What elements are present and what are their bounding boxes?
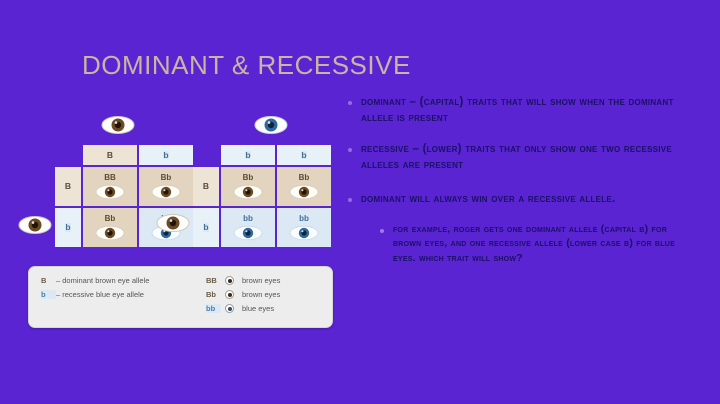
bullet-dot-icon bbox=[380, 229, 384, 233]
legend-description: – recessive blue eye allele bbox=[56, 290, 144, 299]
cell-eye-brown-icon bbox=[95, 225, 125, 241]
side-header-cell: B bbox=[193, 167, 219, 206]
legend-panel: B – dominant brown eye allele b – recess… bbox=[28, 266, 333, 328]
top-header-cell: b bbox=[139, 145, 193, 165]
bullet-item: Dominant – (CAPITAL) traits that will sh… bbox=[348, 94, 696, 127]
genotype-label: Bb bbox=[161, 174, 172, 182]
cell-eye-brown-icon bbox=[95, 184, 125, 200]
cell-eye-brown-icon bbox=[233, 184, 263, 200]
punnett-cell: bb bbox=[221, 208, 275, 247]
slide-canvas: DOMINANT & RECESSIVE Dominant – (CAPITAL… bbox=[0, 0, 720, 404]
cell-eye-brown-icon bbox=[151, 184, 181, 200]
genotype-label: BB bbox=[104, 174, 116, 182]
bullet-item: Dominant will always WIN over a recessiv… bbox=[348, 191, 696, 207]
header-label: B bbox=[65, 182, 71, 191]
punnett-grid: b b B Bb Bb bbox=[193, 145, 331, 247]
legend-eye-dot-brown-icon bbox=[225, 290, 234, 299]
cell-eye-brown-icon bbox=[289, 184, 319, 200]
punnett-cell: Bb bbox=[277, 167, 331, 206]
bullet-dot-icon bbox=[348, 101, 352, 105]
punnett-square-two: b b B Bb Bb bbox=[193, 115, 227, 155]
legend-row: b – recessive blue eye allele bbox=[41, 290, 206, 299]
bullet-text: For example, Roger gets one dominant all… bbox=[393, 222, 696, 265]
legend-eye-dot-brown-icon bbox=[225, 276, 234, 285]
genotype-label: Bb bbox=[299, 174, 310, 182]
header-label: B bbox=[203, 182, 209, 191]
bullet-dot-icon bbox=[348, 198, 352, 202]
punnett-cell: BB bbox=[83, 167, 137, 206]
legend-code: Bb bbox=[206, 290, 221, 299]
punnett-cell: Bb bbox=[139, 167, 193, 206]
genotype-label: Bb bbox=[243, 174, 254, 182]
legend-allele-column: B – dominant brown eye allele b – recess… bbox=[41, 276, 206, 318]
legend-genotype-column: BB brown eyes Bb brown eyes bb blue eyes bbox=[206, 276, 320, 318]
legend-row: Bb brown eyes bbox=[206, 290, 320, 299]
legend-code: B bbox=[41, 276, 56, 285]
punnett-cell: bb bbox=[277, 208, 331, 247]
bullet-text: Dominant – (CAPITAL) traits that will sh… bbox=[361, 94, 696, 127]
legend-row: BB brown eyes bbox=[206, 276, 320, 285]
page-title: DOMINANT & RECESSIVE bbox=[82, 50, 411, 81]
header-label: b bbox=[163, 151, 168, 160]
bullet-dot-icon bbox=[348, 148, 352, 152]
legend-code: BB bbox=[206, 276, 221, 285]
bullet-text: Recessive – (lower) traits that only sho… bbox=[361, 141, 696, 174]
grid-corner-blank bbox=[193, 145, 219, 165]
grid-corner-blank bbox=[55, 145, 81, 165]
top-header-cell: b bbox=[277, 145, 331, 165]
parent-eye-side-brown-icon bbox=[18, 215, 52, 235]
punnett-square-one: B b B BB Bb bbox=[55, 115, 89, 155]
legend-code: b bbox=[41, 290, 56, 299]
header-label: B bbox=[107, 151, 113, 160]
genotype-label: bb bbox=[243, 215, 253, 223]
punnett-cell: Bb bbox=[221, 167, 275, 206]
side-header-cell: B bbox=[55, 167, 81, 206]
bullet-item: Recessive – (lower) traits that only sho… bbox=[348, 141, 696, 174]
header-label: b bbox=[245, 151, 250, 160]
legend-code: bb bbox=[206, 304, 221, 313]
header-label: b bbox=[301, 151, 306, 160]
genotype-label: Bb bbox=[105, 215, 116, 223]
top-header-cell: B bbox=[83, 145, 137, 165]
legend-row: B – dominant brown eye allele bbox=[41, 276, 206, 285]
parent-eye-top-blue-icon bbox=[254, 115, 288, 135]
cell-eye-blue-icon bbox=[289, 225, 319, 241]
legend-description: brown eyes bbox=[242, 276, 280, 285]
bullet-text: Dominant will always WIN over a recessiv… bbox=[361, 191, 615, 207]
side-header-cell: b bbox=[55, 208, 81, 247]
header-label: b bbox=[203, 223, 208, 232]
parent-eye-top-brown-icon bbox=[101, 115, 135, 135]
side-header-cell: b bbox=[193, 208, 219, 247]
punnett-cell: Bb bbox=[83, 208, 137, 247]
top-header-cell: b bbox=[221, 145, 275, 165]
parent-eye-side-brown-icon bbox=[156, 213, 190, 233]
legend-row: bb blue eyes bbox=[206, 304, 320, 313]
header-label: b bbox=[65, 223, 70, 232]
cell-eye-blue-icon bbox=[233, 225, 263, 241]
bullet-list: Dominant – (CAPITAL) traits that will sh… bbox=[348, 94, 696, 279]
bullet-item-sub: For example, Roger gets one dominant all… bbox=[380, 222, 696, 265]
legend-description: brown eyes bbox=[242, 290, 280, 299]
legend-description: – dominant brown eye allele bbox=[56, 276, 149, 285]
genotype-label: bb bbox=[299, 215, 309, 223]
legend-eye-dot-blue-icon bbox=[225, 304, 234, 313]
legend-description: blue eyes bbox=[242, 304, 274, 313]
